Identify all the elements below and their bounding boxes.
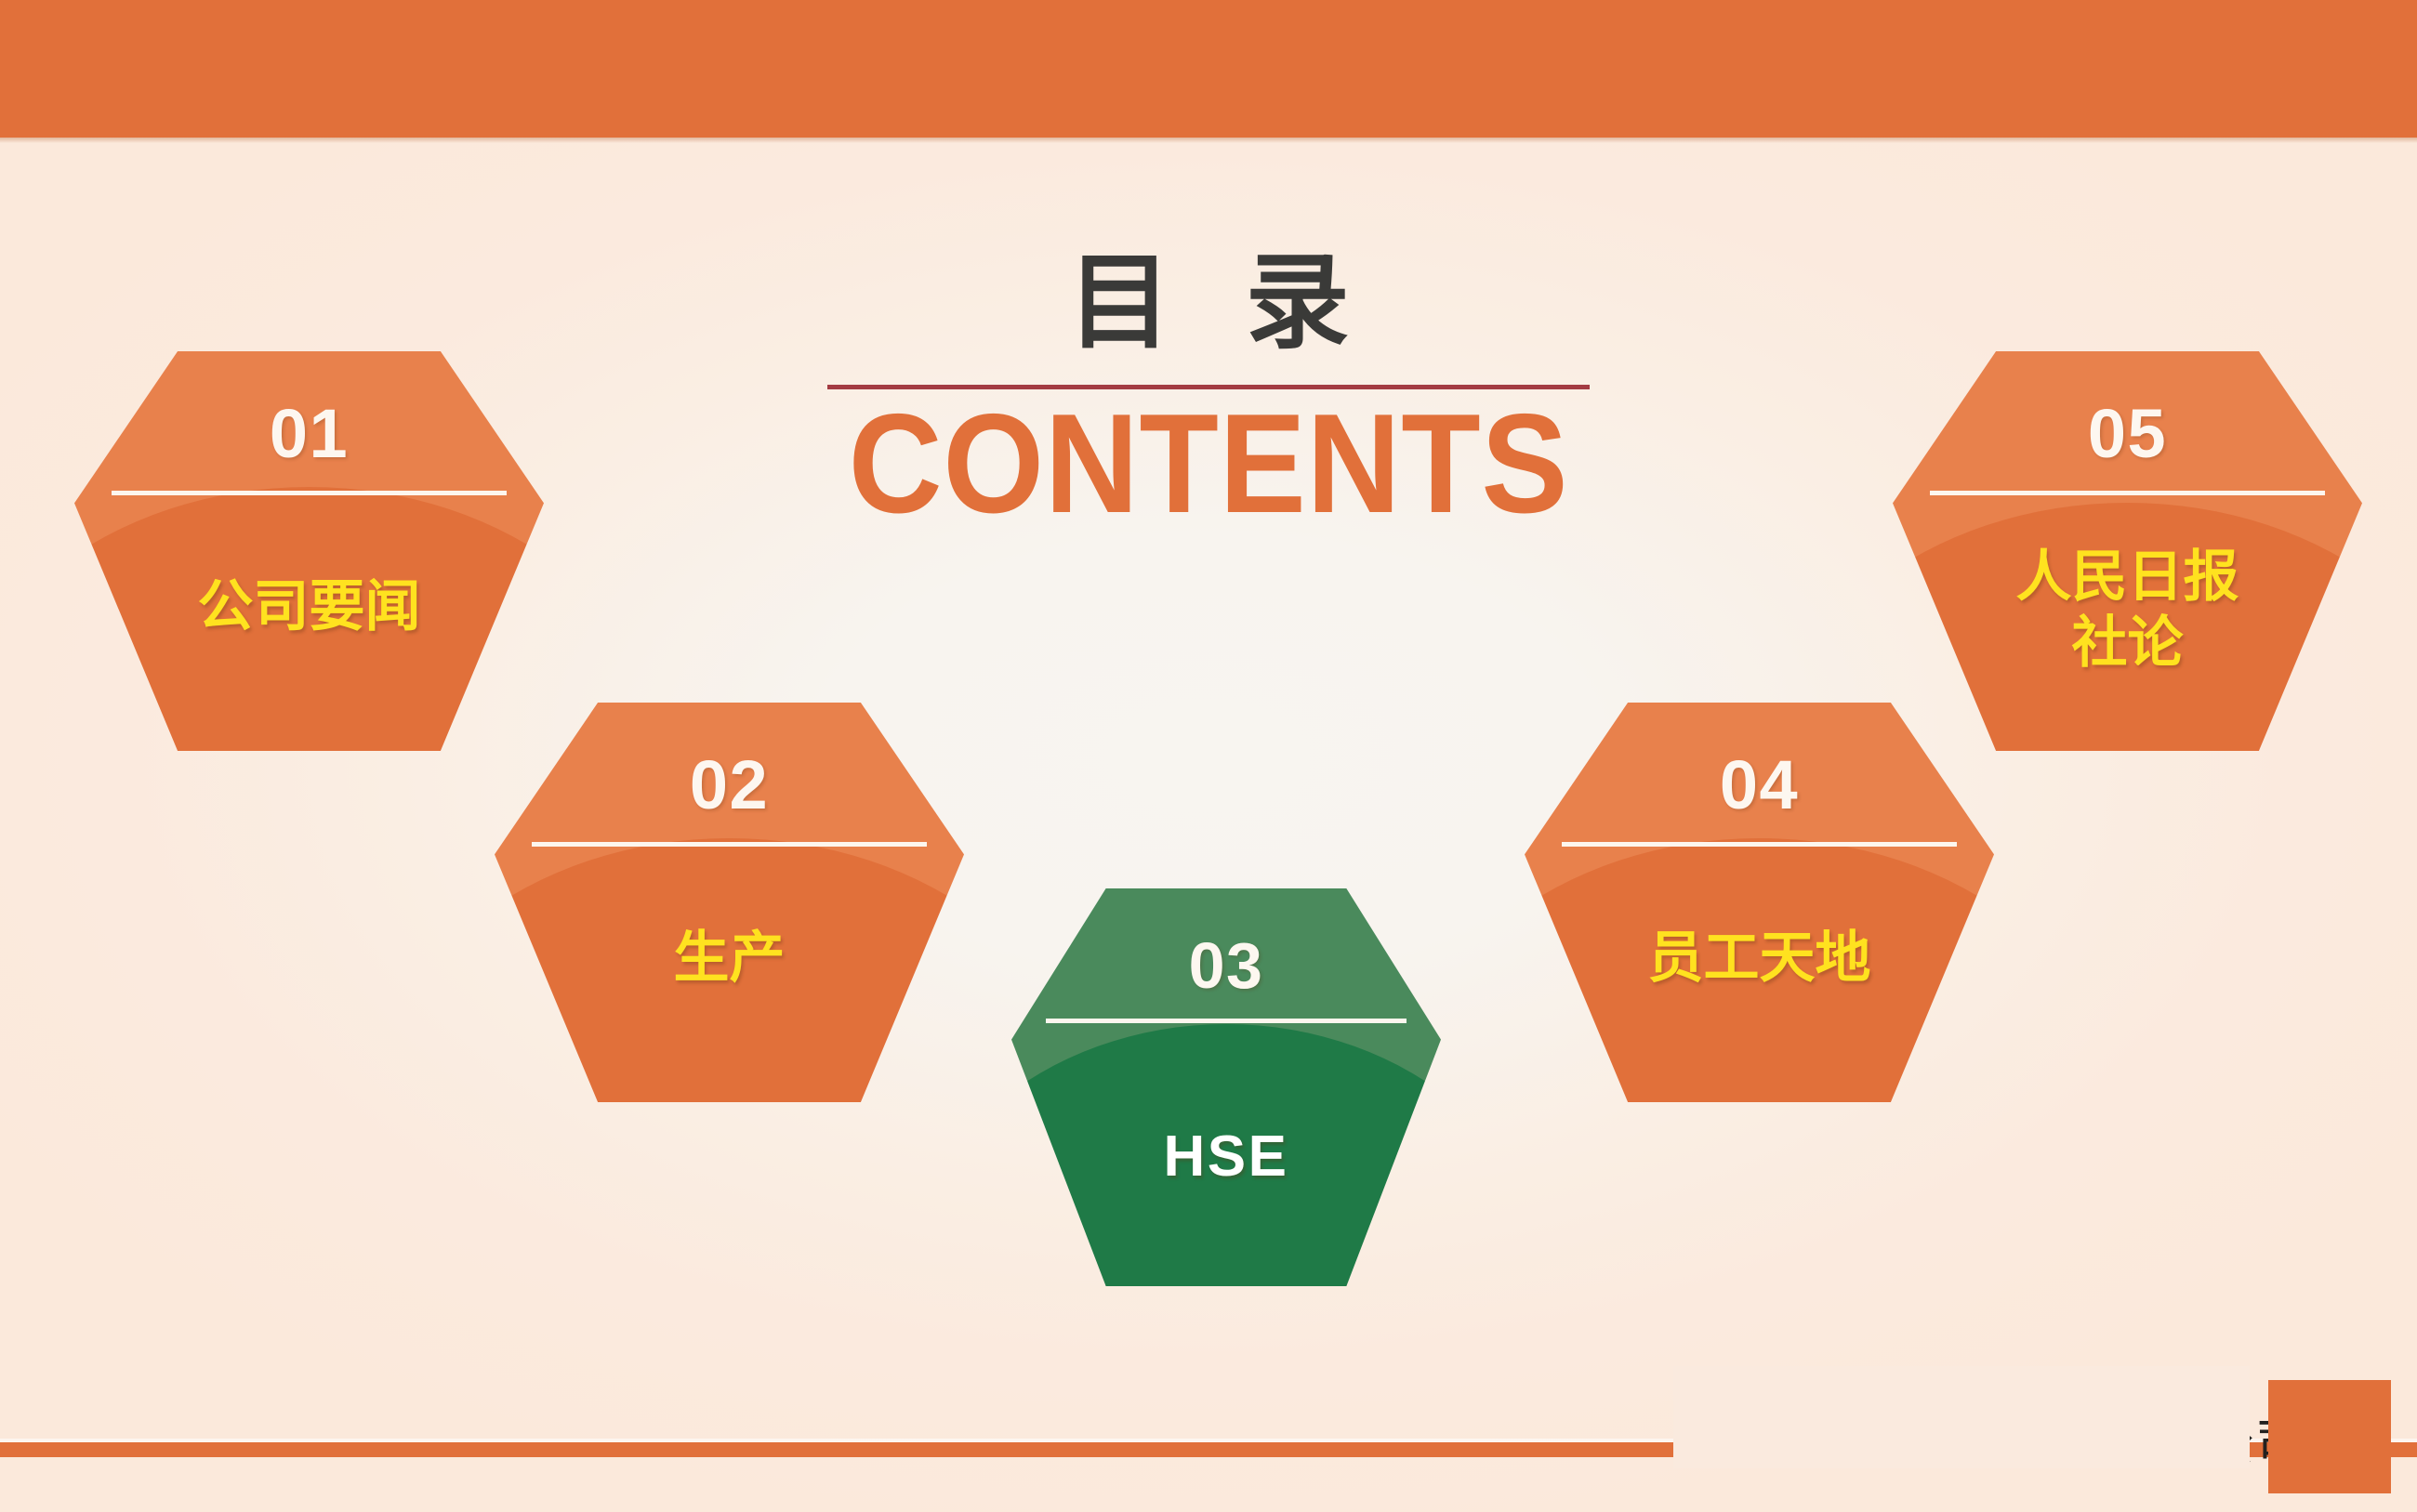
toc-label-04: 员工天地	[1525, 926, 1994, 992]
page-title-cn: 目 录	[790, 249, 1627, 359]
hexagon-divider-line	[1930, 491, 2324, 495]
toc-label-03: HSE	[1011, 1123, 1441, 1190]
hexagon-divider-line	[112, 491, 506, 495]
toc-hexagon-05[interactable]: 05 人民日报 社论	[1893, 351, 2362, 751]
toc-hexagon-01[interactable]: 01 公司要闻	[74, 351, 544, 751]
toc-number-02: 02	[495, 751, 964, 820]
toc-label-05-line1: 人民日报	[2016, 546, 2239, 608]
toc-number-03: 03	[1011, 933, 1441, 998]
top-orange-bar	[0, 0, 2417, 138]
toc-label-05-line2: 社论	[2072, 611, 2184, 674]
hexagon-divider-line	[532, 842, 926, 847]
top-bar-shadow	[0, 138, 2417, 143]
page-title-en: CONTENTS	[824, 393, 1593, 534]
toc-hexagon-03[interactable]: 03 HSE	[1011, 888, 1441, 1286]
toc-label-05: 人民日报 社论	[1893, 545, 2362, 677]
hexagon-divider-line	[1562, 842, 1956, 847]
toc-label-02: 生产	[495, 926, 964, 992]
contents-heading: 目 录 CONTENTS	[790, 249, 1627, 534]
hexagon-divider-line	[1046, 1019, 1407, 1023]
toc-number-04: 04	[1525, 751, 1994, 820]
footer-text-backdrop	[1673, 1366, 2250, 1468]
toc-number-05: 05	[1893, 400, 2362, 468]
toc-hexagon-02[interactable]: 02 生产	[495, 703, 964, 1102]
toc-label-01: 公司要闻	[74, 574, 544, 640]
footer-orange-square	[2268, 1380, 2391, 1493]
slide-canvas: 目 录 CONTENTS 01 公司要闻 02 生产 03 HSE 04 员工天…	[0, 0, 2417, 1512]
toc-number-01: 01	[74, 400, 544, 468]
toc-hexagon-04[interactable]: 04 员工天地	[1525, 703, 1994, 1102]
